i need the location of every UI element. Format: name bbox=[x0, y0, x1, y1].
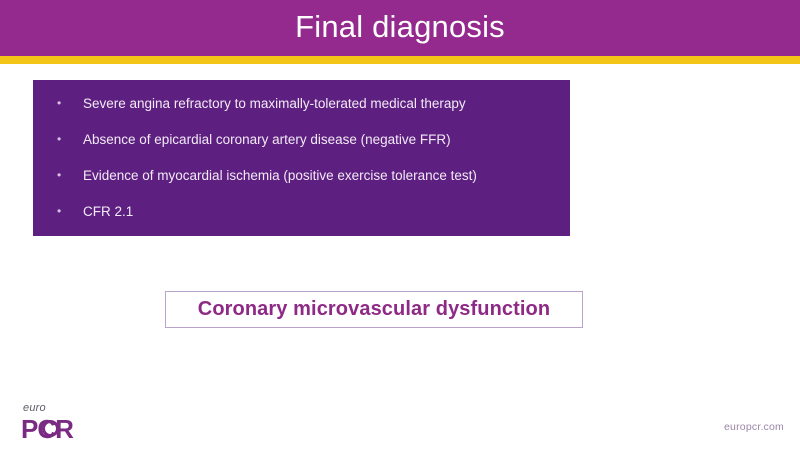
conclusion-box: Coronary microvascular dysfunction bbox=[165, 291, 583, 328]
bullet-point-icon: • bbox=[51, 202, 83, 221]
page-title: Final diagnosis bbox=[0, 0, 800, 56]
bullet-point-icon: • bbox=[51, 166, 83, 185]
bullet-panel: • Severe angina refractory to maximally-… bbox=[33, 80, 570, 236]
logo-euro-text: euro bbox=[23, 402, 46, 414]
list-item: • Severe angina refractory to maximally-… bbox=[51, 94, 552, 113]
list-item-label: Severe angina refractory to maximally-to… bbox=[83, 94, 552, 113]
list-item-label: Absence of epicardial coronary artery di… bbox=[83, 130, 552, 149]
bullet-point-icon: • bbox=[51, 130, 83, 149]
conclusion-label: Coronary microvascular dysfunction bbox=[198, 298, 550, 321]
list-item: • Absence of epicardial coronary artery … bbox=[51, 130, 552, 149]
footer-website-url: europcr.com bbox=[724, 421, 784, 433]
list-item-label: CFR 2.1 bbox=[83, 202, 552, 221]
slide: Final diagnosis • Severe angina refracto… bbox=[0, 0, 800, 450]
header-accent-bar bbox=[0, 56, 800, 64]
list-item: • Evidence of myocardial ischemia (posit… bbox=[51, 166, 552, 185]
logo-ring-icon bbox=[42, 420, 59, 437]
list-item: • CFR 2.1 bbox=[51, 202, 552, 221]
europcr-logo: euro PCR bbox=[21, 402, 93, 442]
list-item-label: Evidence of myocardial ischemia (positiv… bbox=[83, 166, 552, 185]
bullet-point-icon: • bbox=[51, 94, 83, 113]
bullet-list: • Severe angina refractory to maximally-… bbox=[51, 94, 552, 221]
